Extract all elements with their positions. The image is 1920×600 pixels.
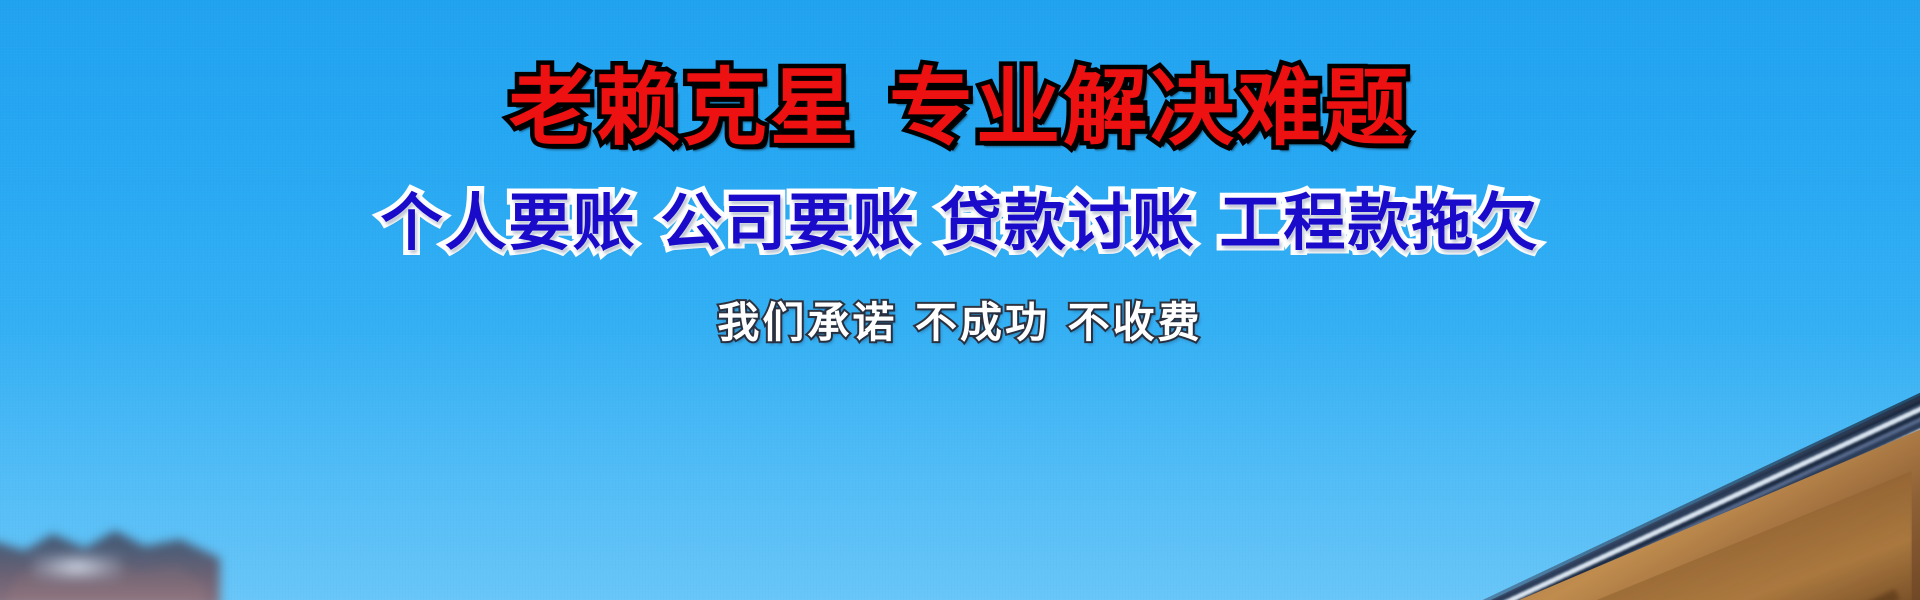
- banner-headline: 老赖克星 专业解决难题: [509, 66, 1411, 150]
- promo-banner: 老赖克星 专业解决难题 个人要账 公司要账 贷款讨账 工程款拖欠 我们承诺 不成…: [0, 0, 1920, 600]
- banner-promise-line: 我们承诺 不成功 不收费: [717, 302, 1202, 344]
- banner-services-line: 个人要账 公司要账 贷款讨账 工程款拖欠: [381, 192, 1540, 254]
- banner-text-block: 老赖克星 专业解决难题 个人要账 公司要账 贷款讨账 工程款拖欠 我们承诺 不成…: [0, 0, 1920, 600]
